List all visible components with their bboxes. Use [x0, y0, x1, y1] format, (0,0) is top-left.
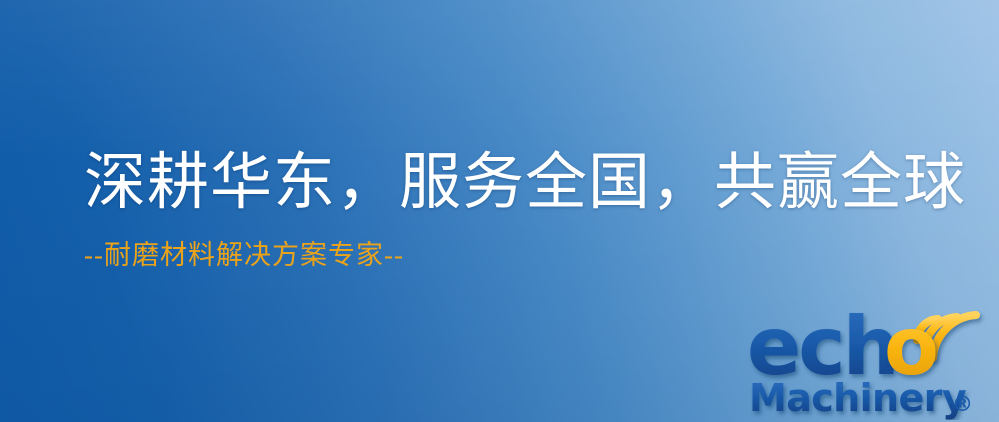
hero-banner: 深耕华东，服务全国，共赢全球 --耐磨材料解决方案专家--	[0, 0, 999, 422]
logo-graphic: ech o Machinery ®	[745, 296, 995, 420]
logo-text-machinery: Machinery	[749, 376, 967, 420]
banner-subtitle: --耐磨材料解决方案专家--	[84, 217, 944, 271]
echo-machinery-logo[interactable]: ech o Machinery ®	[745, 296, 995, 420]
banner-text-block: 深耕华东，服务全国，共赢全球 --耐磨材料解决方案专家--	[84, 150, 944, 271]
registered-trademark-icon: ®	[952, 392, 973, 416]
banner-headline: 深耕华东，服务全国，共赢全球	[84, 150, 944, 217]
